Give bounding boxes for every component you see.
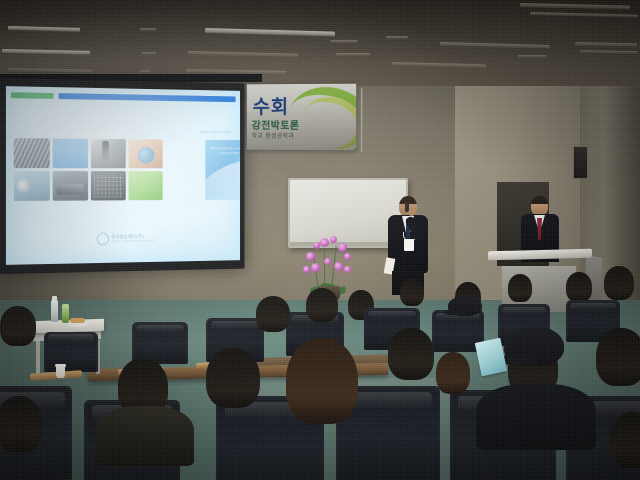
cap-brim [443,308,465,316]
seat-back [44,332,98,372]
slide-thumb-green [129,171,163,200]
audience-shoulders [96,406,194,466]
audience-head [436,352,470,394]
photo-scene: www.kapco.com Delivering [0,0,640,480]
audience-head [566,272,592,302]
slide-thumb-drill [91,139,126,168]
audience-person-far-4 [508,274,532,302]
audience-head [596,328,640,386]
slide-hero-swoosh [205,150,240,200]
slide-thumb-blue [53,138,88,168]
projected-slide: www.kapco.com Delivering [6,86,240,265]
audience-head [306,288,338,322]
audience-shoulders [476,384,596,450]
slide-tagline: Delivering Your Value Plus Creating With… [211,146,240,156]
audience-head [604,266,634,300]
audience-person-long-hair [286,338,358,424]
audience-head [400,278,424,306]
slide-hero-image: Delivering Your Value Plus Creating With… [205,140,240,200]
audience-person-center-right [388,328,434,380]
presenter2-head [531,196,548,216]
logo-sub-text: KOREA FOUNDATION FOR QUALITY [111,240,155,244]
seat[interactable] [44,332,98,372]
audience-head [610,412,640,468]
audience-head [0,396,42,452]
speaker-name-badge [404,239,414,251]
audience-area [0,300,640,480]
slide-thumb-globe [129,139,163,168]
audience-person-far-6 [604,266,634,300]
projection-screen: www.kapco.com Delivering [0,78,244,274]
slide-company-logo: 한국품질재단(주) KOREA FOUNDATION FOR QUALITY [96,232,155,245]
audience-head [286,338,358,424]
logo-mark-icon [96,233,108,246]
audience-person-far-2 [400,278,424,306]
audience-person-mid-1 [256,296,290,332]
audience-head [388,328,434,380]
paper-coffee-cup [56,366,65,378]
slide-url-text: www.kapco.com [200,129,231,134]
microphone [405,202,409,212]
baseball-cap [504,326,564,366]
audience-person-cap-back [448,296,482,320]
baseball-cap [448,296,482,316]
audience-person-right-front [610,412,640,468]
slide-green-bar [11,92,54,99]
slide-thumb-keyboard [91,171,126,200]
slide-thumbnail-grid [14,138,202,204]
audience-person-left-1 [0,306,36,346]
slide-thumb-crowd [14,138,50,168]
audience-person-left-2 [0,396,42,452]
slide-thumb-disc [14,171,50,201]
audience-person-reader [436,352,470,394]
audience-person-mid-2 [306,288,338,322]
audience-person-center [206,348,260,408]
banner-shading [247,84,356,151]
audience-head [508,274,532,302]
banner-pole [361,88,363,152]
audience-head [0,306,36,346]
audience-person-glasses [596,328,640,386]
audience-head [256,296,290,332]
slide-tagline-line2: Creating With Your Society [211,151,240,156]
slide-thumb-plant [53,171,88,201]
slide-blue-bar [58,93,235,102]
event-banner: 수회 강전박토론 학교 환경공학과 [247,84,356,151]
speaker-hand [408,208,415,216]
wall-speaker [573,146,588,179]
audience-person-far-5 [566,272,592,302]
audience-head [206,348,260,408]
